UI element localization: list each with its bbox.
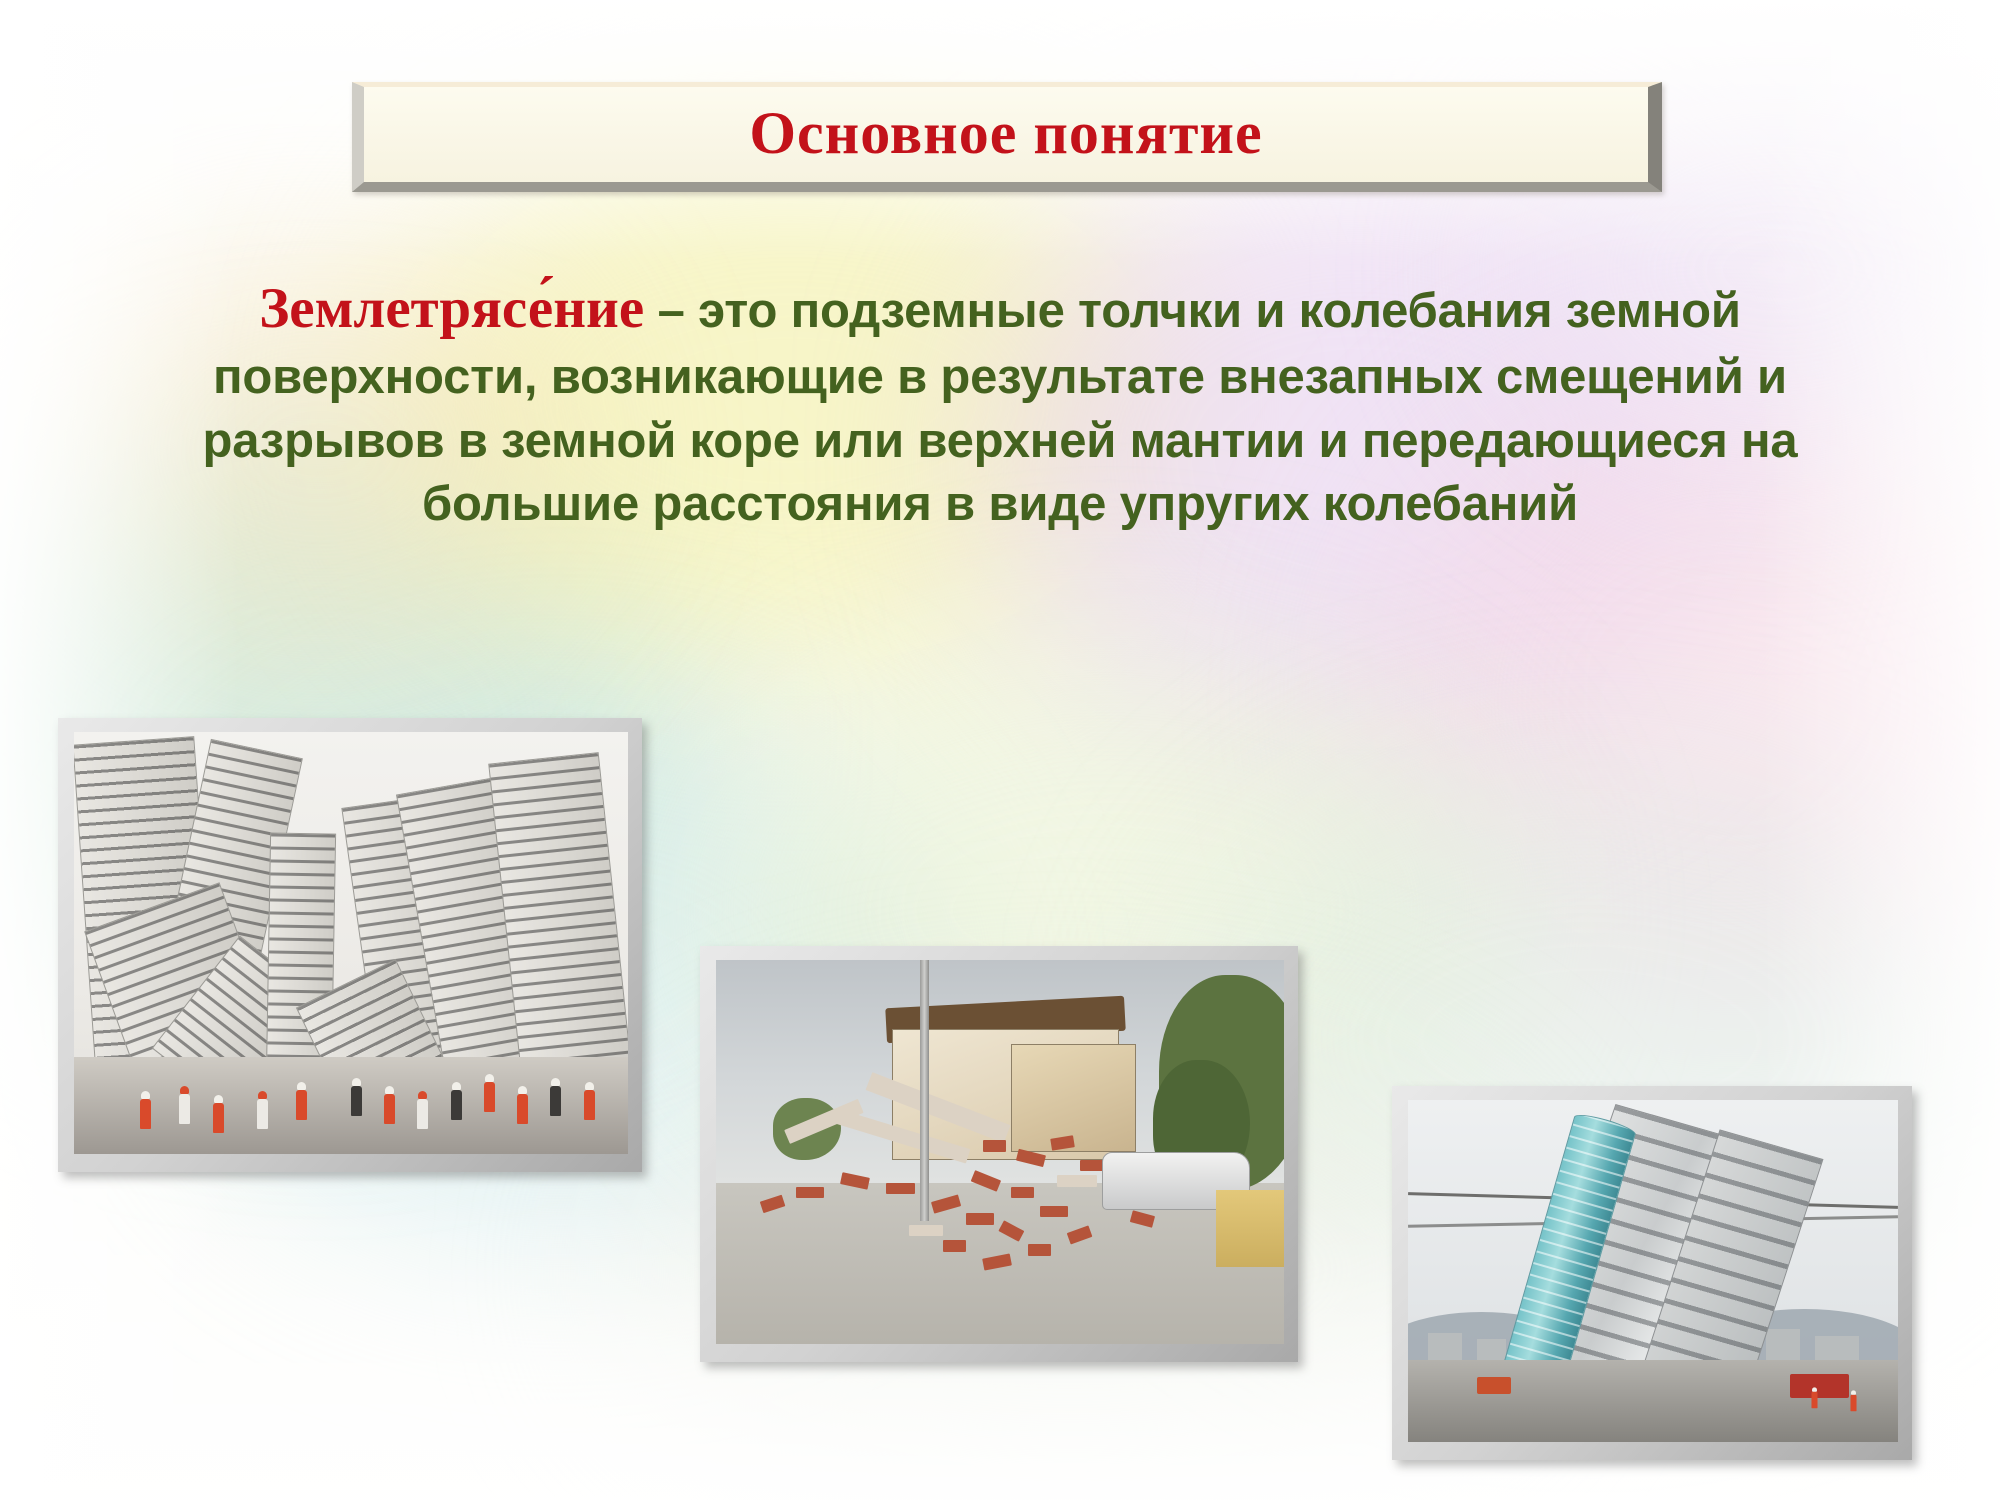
photo-leaning-high-rise bbox=[1392, 1086, 1912, 1460]
definition-paragraph: Землетрясе́ние – это подземные толчки и … bbox=[120, 272, 1880, 537]
page-title: Основное понятие bbox=[749, 103, 1262, 163]
photo-collapsed-apartment-buildings bbox=[58, 718, 642, 1172]
definition-term: Землетрясе́ние bbox=[259, 277, 644, 340]
slide-title-banner: Основное понятие bbox=[352, 82, 1662, 192]
photo-collapsed-brick-house bbox=[700, 946, 1298, 1362]
slide-canvas: Основное понятие Землетрясе́ние – это по… bbox=[0, 0, 2000, 1500]
